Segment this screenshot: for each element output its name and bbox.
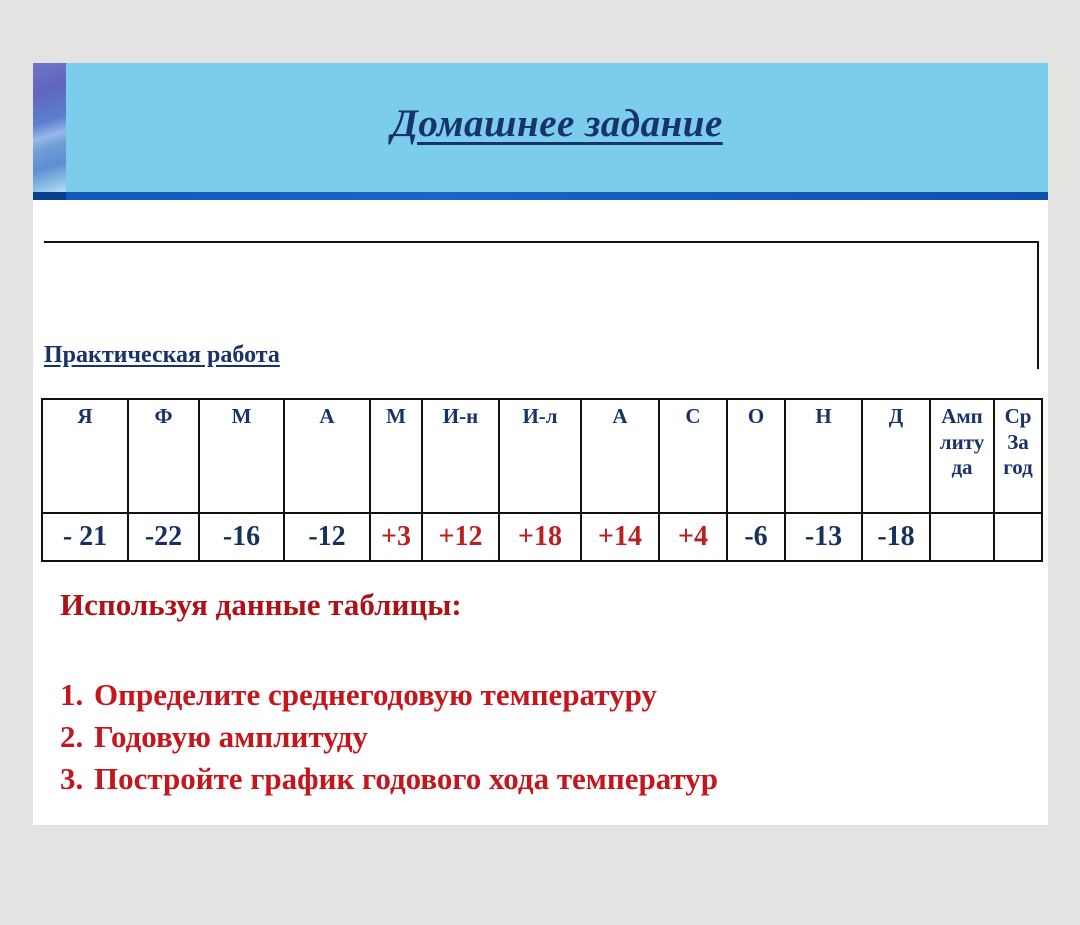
table-cell: +14 [581, 513, 659, 561]
instructions-list: 1. Определите среднегодовую температуру … [60, 674, 1040, 800]
table-cell: -22 [128, 513, 199, 561]
slide-body: Практическая работа Я [33, 200, 1048, 825]
list-item-text: Определите среднегодовую температуру [94, 674, 657, 716]
table-header-cell: Я [42, 399, 128, 513]
table-header-cell: Н [785, 399, 862, 513]
banner-gradient-accent [33, 63, 66, 192]
table-header-cell: А [581, 399, 659, 513]
right-divider [1037, 241, 1039, 369]
list-item-text: Годовую амплитуду [94, 716, 368, 758]
list-item-number: 3. [60, 758, 94, 800]
table-cell: -13 [785, 513, 862, 561]
list-item-number: 2. [60, 716, 94, 758]
page-title-text: Домашнее задание [391, 101, 723, 146]
page-title: Домашнее задание [66, 63, 1048, 192]
table-cell: +3 [370, 513, 422, 561]
table-header-cell: И-н [422, 399, 499, 513]
table-header-cell: М [370, 399, 422, 513]
list-item: 3. Постройте график годового хода темпер… [60, 758, 1040, 800]
table-cell: +4 [659, 513, 727, 561]
table-header-cell: М [199, 399, 284, 513]
table-header-cell: С [659, 399, 727, 513]
list-item-number: 1. [60, 674, 94, 716]
table-row: - 21 -22 -16 -12 +3 +12 +18 +14 +4 -6 -1… [42, 513, 1042, 561]
table-header-cell: Д [862, 399, 930, 513]
title-banner: Домашнее задание [33, 63, 1048, 192]
table-header-cell: А [284, 399, 370, 513]
table-cell: -12 [284, 513, 370, 561]
list-item: 2. Годовую амплитуду [60, 716, 1040, 758]
list-item: 1. Определите среднегодовую температуру [60, 674, 1040, 716]
list-item-text: Постройте график годового хода температу… [94, 758, 718, 800]
slide: Домашнее задание Практическая работа [33, 63, 1048, 825]
table-cell: - 21 [42, 513, 128, 561]
instructions-heading: Используя данные таблицы: [60, 588, 1040, 622]
banner-underline-bar [33, 192, 1048, 200]
table-header-cell: О [727, 399, 785, 513]
banner-underline-bar-tip [33, 192, 66, 200]
table-header-cell-amplitude: Амп литу да [930, 399, 994, 513]
section-label: Практическая работа [44, 342, 280, 369]
table-header-row: Я Ф М А М И-н И-л А С О Н Д Амп литу да … [42, 399, 1042, 513]
table-header-cell: И-л [499, 399, 581, 513]
table-cell: -6 [727, 513, 785, 561]
table-header-cell: Ф [128, 399, 199, 513]
instructions-block: Используя данные таблицы: 1. Определите … [60, 588, 1040, 800]
table-cell: -16 [199, 513, 284, 561]
table-cell-amplitude-value [930, 513, 994, 561]
table-header-cell-annual-average: Ср За год [994, 399, 1042, 513]
table-cell: +18 [499, 513, 581, 561]
top-divider [44, 241, 1039, 243]
table-cell: -18 [862, 513, 930, 561]
temperature-table: Я Ф М А М И-н И-л А С О Н Д Амп литу да … [41, 398, 1043, 562]
table-cell-annual-average-value [994, 513, 1042, 561]
table-cell: +12 [422, 513, 499, 561]
